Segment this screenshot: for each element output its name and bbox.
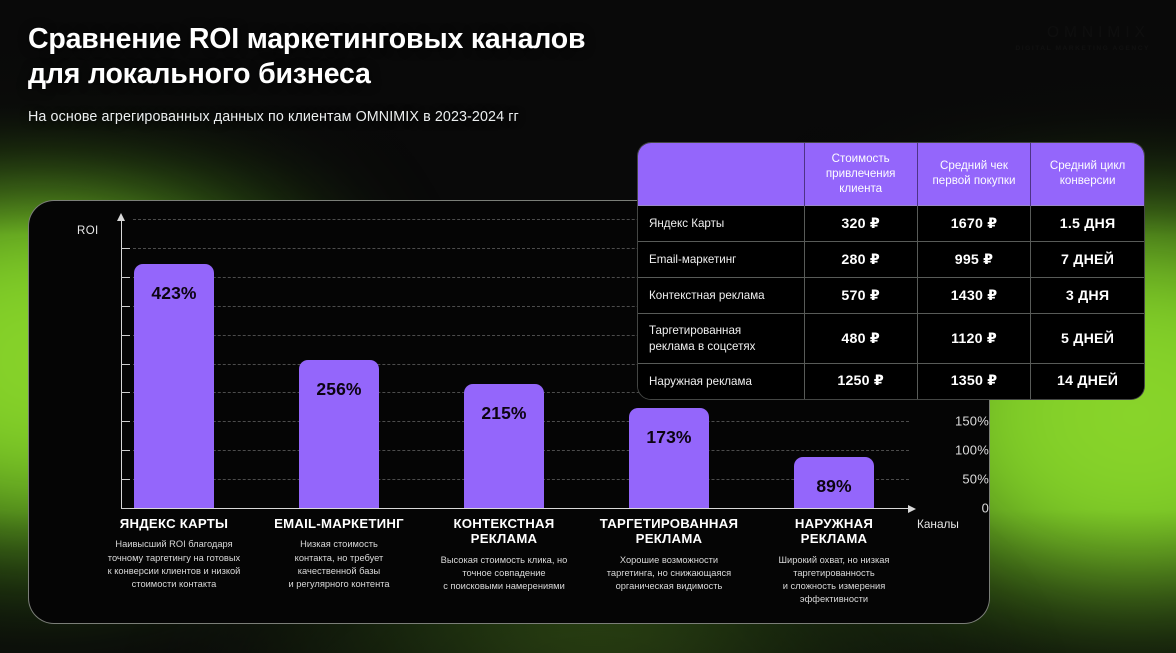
- y-tick-mark: [121, 248, 130, 249]
- table-cell-channel: Email-маркетинг: [638, 242, 804, 278]
- y-tick-mark: [121, 421, 130, 422]
- table-cell-cac: 480 ₽: [804, 314, 917, 363]
- category-description: Наивысший ROI благодаря точному таргетин…: [86, 538, 262, 591]
- metrics-table-element: Стоимость привлечения клиента Средний че…: [638, 143, 1144, 399]
- table-cell-avg-check: 995 ₽: [917, 242, 1030, 278]
- category-description: Широкий охват, но низкая таргетированнос…: [746, 554, 922, 607]
- category-name: ЯНДЕКС КАРТЫ: [86, 516, 262, 531]
- category-name: КОНТЕКСТНАЯ РЕКЛАМА: [416, 516, 592, 547]
- y-tick-mark: [121, 450, 130, 451]
- table-cell-cycle: 5 ДНЕЙ: [1031, 314, 1144, 363]
- table-cell-avg-check: 1430 ₽: [917, 278, 1030, 314]
- y-tick-mark: [121, 508, 130, 509]
- table-cell-channel: Контекстная реклама: [638, 278, 804, 314]
- y-tick-mark: [121, 277, 130, 278]
- table-col-avg-check: Средний чек первой покупки: [917, 143, 1030, 206]
- y-tick-mark: [121, 479, 130, 480]
- category-block: НАРУЖНАЯ РЕКЛАМАШирокий охват, но низкая…: [746, 516, 922, 607]
- table-row: Таргетированная реклама в соцсетях480 ₽1…: [638, 314, 1144, 363]
- table-row: Email-маркетинг280 ₽995 ₽7 ДНЕЙ: [638, 242, 1144, 278]
- bar-value-label: 256%: [279, 379, 399, 400]
- table-cell-channel: Таргетированная реклама в соцсетях: [638, 314, 804, 363]
- table-cell-cycle: 3 ДНЯ: [1031, 278, 1144, 314]
- table-cell-avg-check: 1350 ₽: [917, 363, 1030, 399]
- category-name: НАРУЖНАЯ РЕКЛАМА: [746, 516, 922, 547]
- metrics-table-head: Стоимость привлечения клиента Средний че…: [638, 143, 1144, 206]
- y-tick-label: 100%: [931, 443, 989, 458]
- table-col-cac: Стоимость привлечения клиента: [804, 143, 917, 206]
- category-description: Низкая стоимость контакта, но требует ка…: [251, 538, 427, 591]
- table-cell-avg-check: 1670 ₽: [917, 206, 1030, 242]
- metrics-table-body: Яндекс Карты320 ₽1670 ₽1.5 ДНЯEmail-марк…: [638, 206, 1144, 399]
- table-col-cycle: Средний цикл конверсии: [1031, 143, 1144, 206]
- table-cell-avg-check: 1120 ₽: [917, 314, 1030, 363]
- y-axis-arrow-icon: [117, 213, 125, 221]
- table-cell-channel: Яндекс Карты: [638, 206, 804, 242]
- bar-value-label: 215%: [444, 403, 564, 424]
- x-axis-arrow-icon: [908, 505, 916, 513]
- page-subtitle: На основе агрегированных данных по клиен…: [28, 109, 1146, 125]
- category-block: ТАРГЕТИРОВАННАЯ РЕКЛАМАХорошие возможнос…: [581, 516, 757, 593]
- bar-value-label: 173%: [609, 427, 729, 448]
- y-tick-label: 150%: [931, 414, 989, 429]
- table-cell-cac: 320 ₽: [804, 206, 917, 242]
- table-cell-cycle: 7 ДНЕЙ: [1031, 242, 1144, 278]
- x-axis-title: Каналы: [917, 517, 959, 531]
- y-tick-label: 0: [931, 501, 989, 516]
- bar-value-label: 89%: [774, 476, 894, 497]
- category-description: Хорошие возможности таргетинга, но снижа…: [581, 554, 757, 594]
- category-block: ЯНДЕКС КАРТЫНаивысший ROI благодаря точн…: [86, 516, 262, 591]
- category-name: EMAIL-МАРКЕТИНГ: [251, 516, 427, 531]
- y-tick-mark: [121, 335, 130, 336]
- table-row: Контекстная реклама570 ₽1430 ₽3 ДНЯ: [638, 278, 1144, 314]
- metrics-table: Стоимость привлечения клиента Средний че…: [637, 142, 1145, 400]
- table-cell-cycle: 1.5 ДНЯ: [1031, 206, 1144, 242]
- bar-value-label: 423%: [114, 283, 234, 304]
- table-header-row: Стоимость привлечения клиента Средний че…: [638, 143, 1144, 206]
- category-name: ТАРГЕТИРОВАННАЯ РЕКЛАМА: [581, 516, 757, 547]
- table-cell-cac: 280 ₽: [804, 242, 917, 278]
- y-tick-mark: [121, 306, 130, 307]
- table-corner-cell: [638, 143, 804, 206]
- category-block: EMAIL-МАРКЕТИНГНизкая стоимость контакта…: [251, 516, 427, 591]
- page-title: Сравнение ROI маркетинговых каналов для …: [28, 22, 1146, 93]
- table-row: Яндекс Карты320 ₽1670 ₽1.5 ДНЯ: [638, 206, 1144, 242]
- header: Сравнение ROI маркетинговых каналов для …: [0, 0, 1176, 125]
- y-tick-label: 50%: [931, 472, 989, 487]
- category-block: КОНТЕКСТНАЯ РЕКЛАМАВысокая стоимость кли…: [416, 516, 592, 593]
- y-tick-mark: [121, 392, 130, 393]
- y-tick-mark: [121, 364, 130, 365]
- y-axis-title: ROI: [77, 225, 99, 237]
- table-cell-cycle: 14 ДНЕЙ: [1031, 363, 1144, 399]
- category-description: Высокая стоимость клика, но точное совпа…: [416, 554, 592, 594]
- table-cell-channel: Наружная реклама: [638, 363, 804, 399]
- table-row: Наружная реклама1250 ₽1350 ₽14 ДНЕЙ: [638, 363, 1144, 399]
- table-cell-cac: 570 ₽: [804, 278, 917, 314]
- bar[interactable]: [629, 408, 709, 508]
- x-axis-line: [121, 508, 909, 509]
- table-cell-cac: 1250 ₽: [804, 363, 917, 399]
